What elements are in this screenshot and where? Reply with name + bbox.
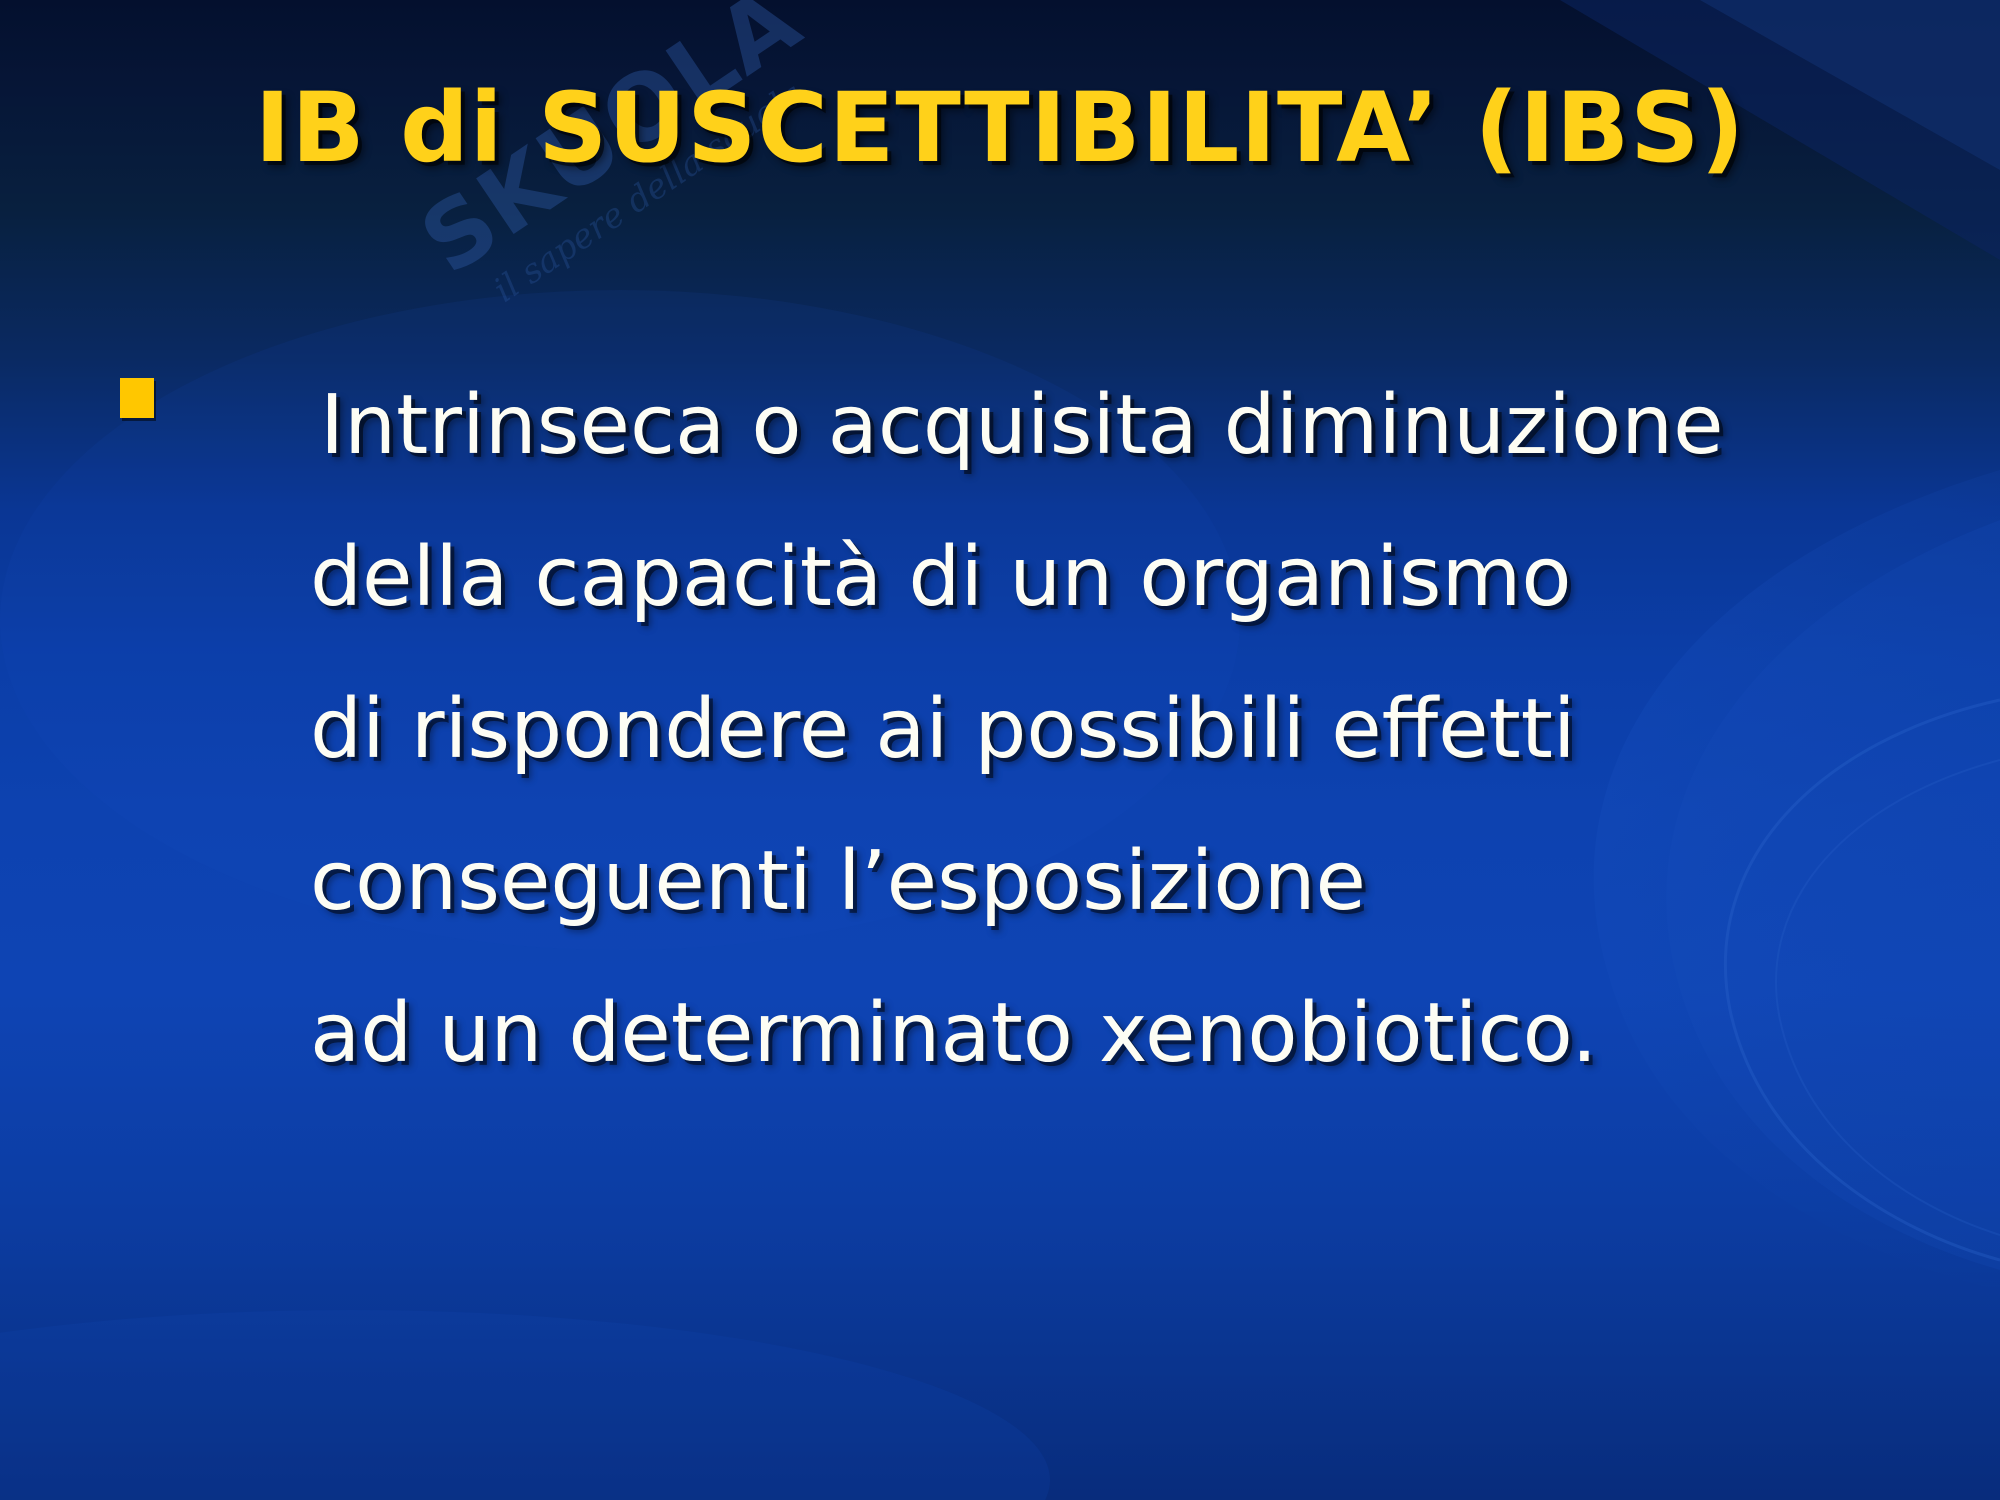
square-bullet-icon xyxy=(120,378,154,418)
presentation-slide: SKUOLA il sapere della scuola IB di SUSC… xyxy=(0,0,2000,1500)
bullet-list-item: Intrinseca o acquisita diminuzione della… xyxy=(0,350,2000,1110)
body-line-5: ad un determinato xenobiotico. xyxy=(310,958,2000,1110)
slide-body: Intrinseca o acquisita diminuzione della… xyxy=(0,350,2000,1450)
body-line-2: della capacità di un organismo xyxy=(310,502,2000,654)
body-line-1: Intrinseca o acquisita diminuzione xyxy=(320,350,2000,502)
slide-title: IB di SUSCETTIBILITA’ (IBS) xyxy=(0,78,2000,179)
body-line-4: conseguenti l’esposizione xyxy=(310,806,2000,958)
body-line-3: di rispondere ai possibili effetti xyxy=(310,654,2000,806)
